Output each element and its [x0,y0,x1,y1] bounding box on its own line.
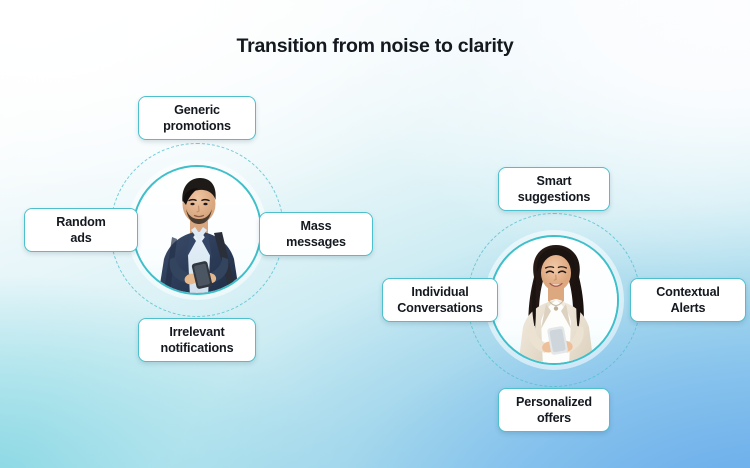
label-line-1: Individual [411,285,468,299]
label-noise-right[interactable]: Mass messages [259,212,373,256]
label-line-2: notifications [161,341,234,355]
label-line-2: ads [70,231,91,245]
label-line-2: suggestions [518,190,591,204]
label-line-1: Mass [301,219,332,233]
label-clarity-bottom[interactable]: Personalized offers [498,388,610,432]
label-line-2: promotions [163,119,231,133]
label-line-1: Personalized [516,395,592,409]
label-line-2: Alerts [671,301,706,315]
label-noise-left[interactable]: Random ads [24,208,138,252]
label-line-2: Conversations [397,301,483,315]
label-noise-top[interactable]: Generic promotions [138,96,256,140]
photo-circle-clarity [489,235,619,365]
page-title: Transition from noise to clarity [0,35,750,58]
label-clarity-left[interactable]: Individual Conversations [382,278,498,322]
label-line-2: offers [537,411,571,425]
label-line-1: Smart [537,174,572,188]
photo-circle-noise [132,165,262,295]
label-line-1: Contextual [656,285,720,299]
label-line-2: messages [286,235,346,249]
label-noise-bottom[interactable]: Irrelevant notifications [138,318,256,362]
infographic-canvas: Transition from noise to clarity [0,0,750,468]
label-clarity-right[interactable]: Contextual Alerts [630,278,746,322]
label-line-1: Generic [174,103,220,117]
label-clarity-top[interactable]: Smart suggestions [498,167,610,211]
label-line-1: Random [56,215,105,229]
label-line-1: Irrelevant [169,325,224,339]
